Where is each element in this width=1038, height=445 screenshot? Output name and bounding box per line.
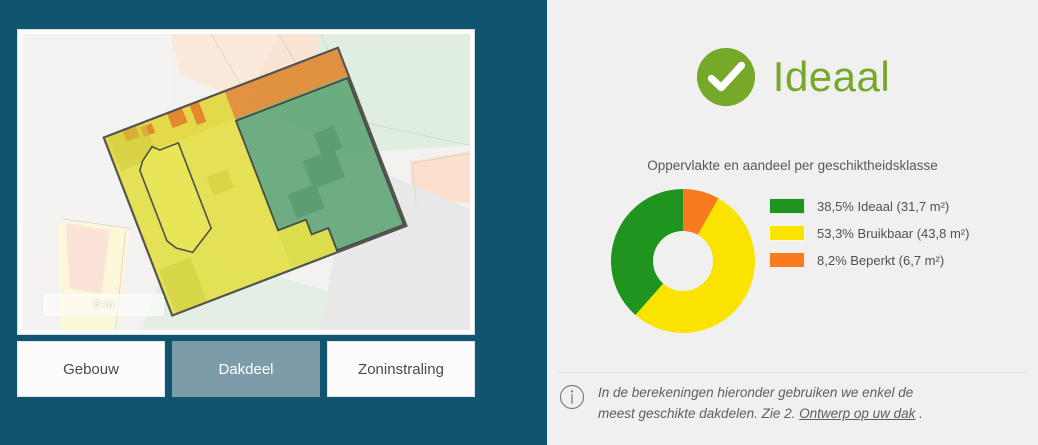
tab-zoninstraling-label: Zoninstraling — [358, 361, 444, 378]
legend-item-bruikbaar[interactable]: 53,3% Bruikbaar (43,8 m²) — [769, 225, 969, 241]
note-text: In de berekeningen hieronder gebruiken w… — [598, 383, 923, 425]
suitability-donut-chart[interactable] — [608, 186, 758, 336]
info-circle-icon — [559, 384, 585, 410]
map-panel: 5 m Gebouw Dakdeel Zoninstraling — [0, 0, 547, 445]
legend-swatch-bruikbaar — [769, 225, 805, 241]
note-line-2-prefix: meest geschikte dakdelen. Zie 2. — [598, 406, 799, 421]
chart-and-legend: 38,5% Ideaal (31,7 m²) 53,3% Bruikbaar (… — [597, 186, 1028, 336]
results-panel: Ideaal Oppervlakte en aandeel per geschi… — [547, 0, 1038, 445]
legend-label-beperkt: 8,2% Beperkt (6,7 m²) — [817, 253, 944, 268]
tab-gebouw[interactable]: Gebouw — [17, 341, 165, 397]
scalebar-label: 5 m — [94, 299, 114, 311]
note-line-2-suffix: . — [915, 406, 923, 421]
note-line-1: In de berekeningen hieronder gebruiken w… — [598, 385, 913, 400]
legend-item-beperkt[interactable]: 8,2% Beperkt (6,7 m²) — [769, 252, 969, 268]
ontwerp-op-uw-dak-link[interactable]: Ontwerp op uw dak — [799, 406, 915, 421]
verdict-banner: Ideaal — [547, 46, 1038, 108]
map-tabs: Gebouw Dakdeel Zoninstraling — [17, 341, 475, 397]
legend-label-bruikbaar: 53,3% Bruikbaar (43,8 m²) — [817, 226, 969, 241]
calculation-note: In de berekeningen hieronder gebruiken w… — [559, 372, 1026, 425]
verdict-label: Ideaal — [773, 56, 890, 98]
tab-dakdeel-label: Dakdeel — [218, 361, 273, 378]
chart-legend: 38,5% Ideaal (31,7 m²) 53,3% Bruikbaar (… — [769, 186, 969, 279]
legend-label-ideaal: 38,5% Ideaal (31,7 m²) — [817, 199, 949, 214]
tab-gebouw-label: Gebouw — [63, 361, 119, 378]
donut-chart-container — [597, 186, 769, 336]
map-viewport[interactable]: 5 m — [22, 34, 470, 330]
tab-dakdeel[interactable]: Dakdeel — [172, 341, 320, 397]
check-circle-icon — [695, 46, 757, 108]
legend-item-ideaal[interactable]: 38,5% Ideaal (31,7 m²) — [769, 198, 969, 214]
legend-swatch-ideaal — [769, 198, 805, 214]
tab-zoninstraling[interactable]: Zoninstraling — [327, 341, 475, 397]
legend-swatch-beperkt — [769, 252, 805, 268]
donut-hole — [653, 231, 713, 291]
roof-suitability-map[interactable] — [22, 34, 470, 330]
map-card: 5 m — [17, 29, 475, 335]
chart-title: Oppervlakte en aandeel per geschiktheids… — [547, 158, 1038, 173]
solar-roof-panel: 5 m Gebouw Dakdeel Zoninstraling Ideaal — [0, 0, 1038, 445]
map-scalebar: 5 m — [44, 294, 164, 316]
